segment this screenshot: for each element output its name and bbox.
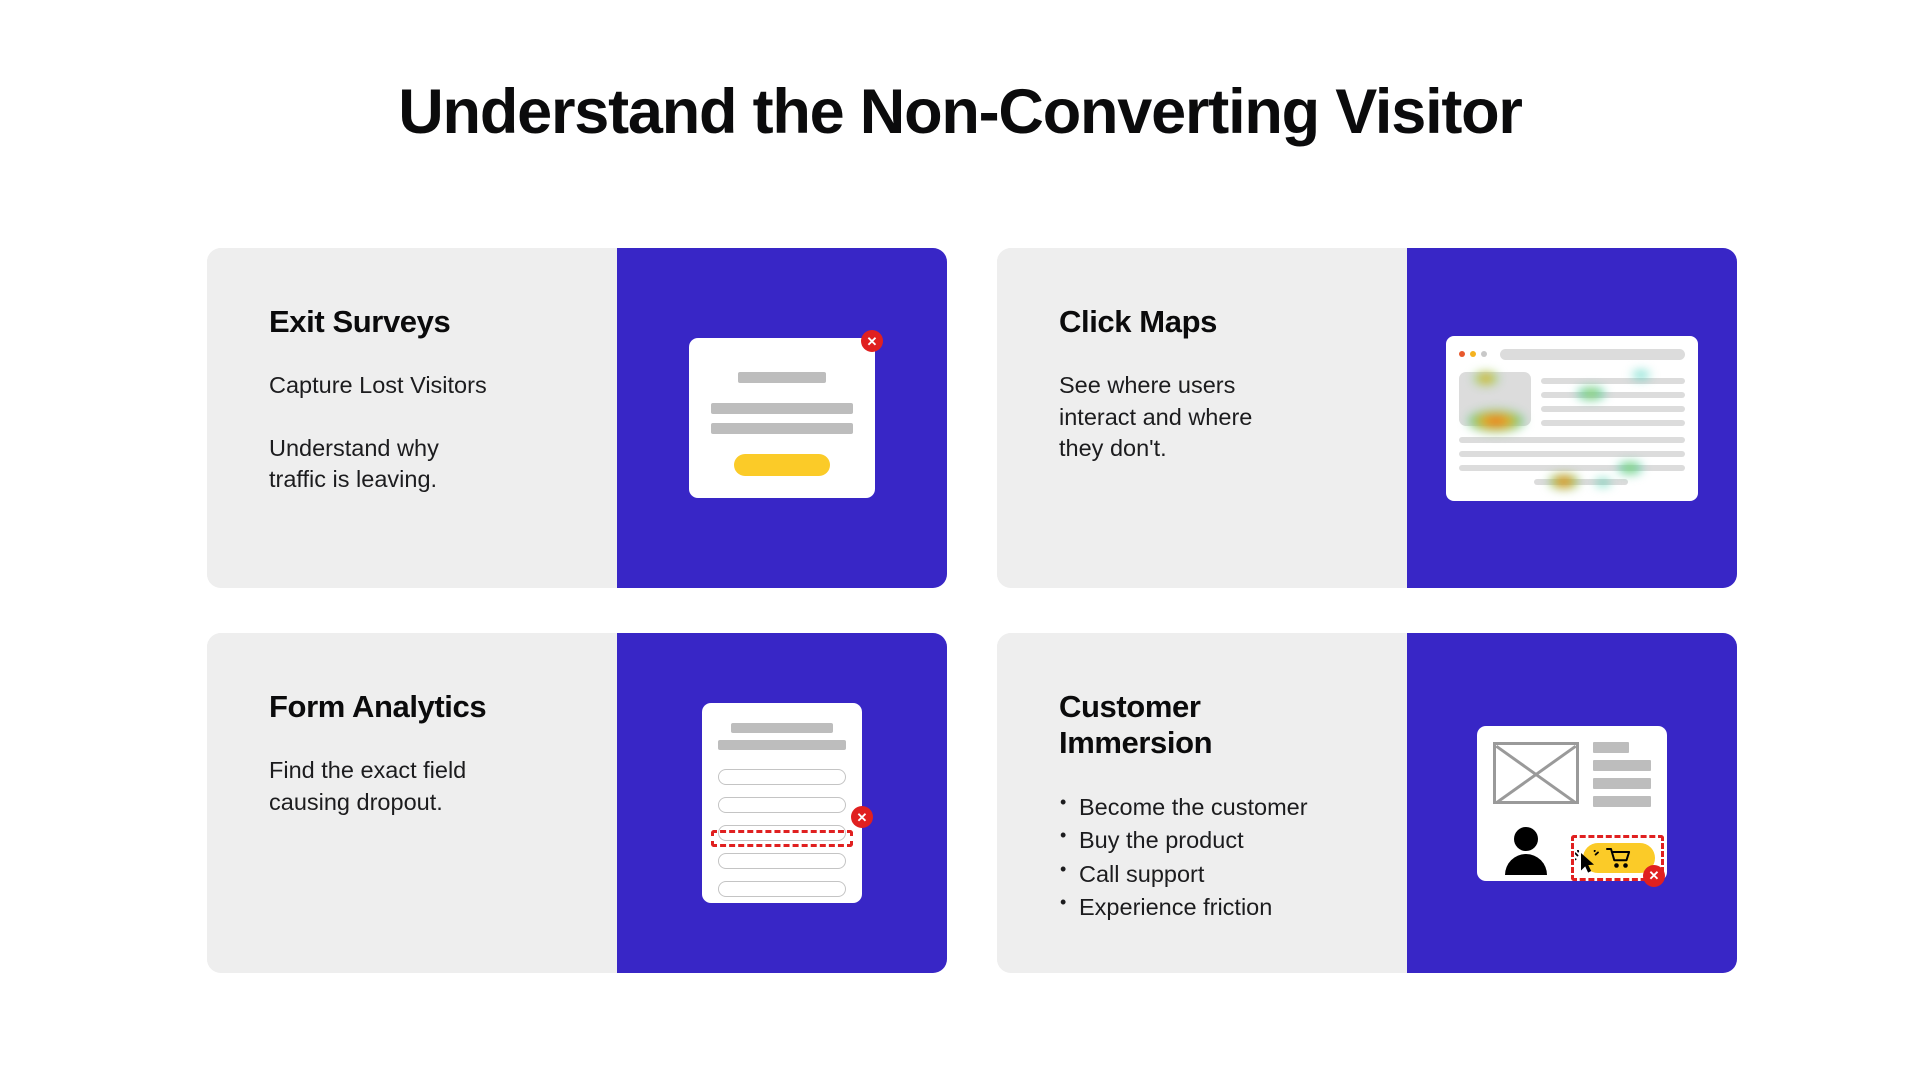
card-text-panel: CustomerImmersion Become the customer Bu… [997,633,1407,973]
form-field-row [718,853,846,869]
form-field-row [718,769,846,785]
form-input-field[interactable] [718,881,846,897]
form-input-field[interactable] [718,853,846,869]
feature-card-grid: Exit Surveys Capture Lost Visitors Under… [207,248,1737,973]
page-title: Understand the Non-Converting Visitor [0,78,1920,147]
form-input-field[interactable] [718,797,846,813]
click-cursor-icon [1575,850,1601,876]
form-heading-placeholder [731,723,833,733]
form-input-field[interactable] [718,769,846,785]
list-item: Buy the product [1059,824,1407,857]
card-subtitle-1: See where usersinteract and wherethey do… [1059,370,1371,465]
modal-heading-placeholder [738,372,826,383]
form-field-row [718,881,846,897]
modal-cta-button[interactable] [734,454,831,476]
card-title: Click Maps [1059,304,1369,340]
card-illustration-panel [1407,248,1737,588]
browser-content-bottom [1459,437,1685,485]
form-field-row-flagged [718,825,846,841]
card-title: Exit Surveys [269,304,579,340]
list-item: Call support [1059,858,1407,891]
card-click-maps[interactable]: Click Maps See where usersinteract and w… [997,248,1737,588]
text-line [1593,760,1651,771]
image-placeholder-icon [1493,742,1579,804]
text-line-group [1541,372,1685,426]
product-action-row: ✕ [1493,819,1651,877]
heatmap-browser-mock [1446,336,1698,501]
form-field-row [718,797,846,813]
text-line [1459,437,1685,443]
window-dot-red-icon [1459,351,1465,357]
card-customer-immersion[interactable]: CustomerImmersion Become the customer Bu… [997,633,1737,973]
card-illustration-panel: ✕ [617,633,947,973]
text-line [1541,406,1685,412]
product-hero-row [1493,742,1651,807]
text-line [1593,742,1629,753]
modal-text-placeholder [711,423,853,434]
card-bullet-list: Become the customer Buy the product Call… [1059,791,1407,924]
browser-url-bar[interactable] [1500,349,1685,360]
exit-survey-modal-mock: ✕ [689,338,875,498]
list-item: Experience friction [1059,891,1407,924]
text-line [1541,378,1685,384]
product-page-mock: ✕ [1477,726,1667,881]
text-line [1593,796,1651,807]
card-subtitle-1: Capture Lost Visitors [269,370,581,402]
text-line [1593,778,1651,789]
text-line [1534,479,1629,485]
user-avatar-icon [1505,827,1547,875]
window-dot-gray-icon [1481,351,1487,357]
window-dot-yellow-icon [1470,351,1476,357]
text-line [1541,420,1685,426]
card-exit-surveys[interactable]: Exit Surveys Capture Lost Visitors Under… [207,248,947,588]
close-icon[interactable]: ✕ [851,806,873,828]
text-line [1459,451,1685,457]
cart-icon [1606,847,1632,869]
card-text-panel: Form Analytics Find the exact fieldcausi… [207,633,617,973]
card-text-panel: Click Maps See where usersinteract and w… [997,248,1407,588]
card-title: Form Analytics [269,689,579,725]
card-subtitle-2: Understand whytraffic is leaving. [269,433,581,496]
text-line [1541,392,1685,398]
close-icon[interactable]: ✕ [861,330,883,352]
card-text-panel: Exit Surveys Capture Lost Visitors Under… [207,248,617,588]
form-subheading-placeholder [718,740,846,750]
add-to-cart-region [1583,843,1655,873]
browser-chrome-bar [1459,349,1685,360]
card-illustration-panel: ✕ [1407,633,1737,973]
card-illustration-panel: ✕ [617,248,947,588]
product-text-group [1593,742,1651,807]
image-placeholder [1459,372,1531,426]
form-input-field-dropout[interactable] [718,825,846,841]
list-item: Become the customer [1059,791,1407,824]
modal-text-placeholder [711,403,853,414]
card-title: CustomerImmersion [1059,689,1369,761]
slide-canvas: Understand the Non-Converting Visitor Ex… [0,0,1920,1080]
close-icon[interactable]: ✕ [1643,865,1665,887]
card-form-analytics[interactable]: Form Analytics Find the exact fieldcausi… [207,633,947,973]
text-line [1459,465,1685,471]
form-fields-mock: ✕ [702,703,862,903]
browser-content-top [1459,372,1685,426]
card-subtitle-1: Find the exact fieldcausing dropout. [269,755,581,818]
